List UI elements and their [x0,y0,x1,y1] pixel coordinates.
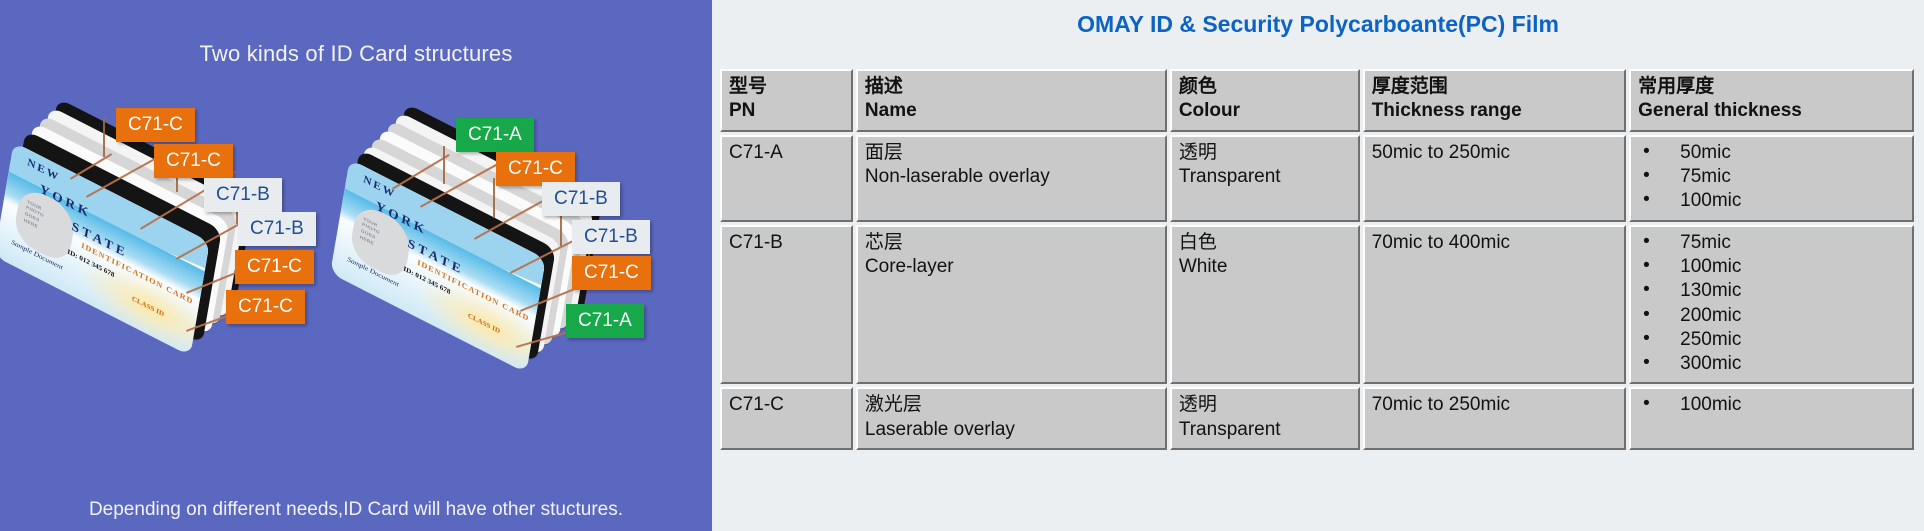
leader-tick [493,178,495,218]
name-cn: 芯层 [865,231,1158,255]
thickness-item: 200mic [1638,304,1905,328]
table-header-row: 型号 PN 描述 Name 颜色 Colour 厚度范围 [720,69,1914,132]
name-cn: 激光层 [865,393,1158,417]
right-spec-panel: OMAY ID & Security Polycarboante(PC) Fil… [712,0,1924,531]
colour-cn: 白色 [1179,231,1351,255]
left-illustration-panel: Two kinds of ID Card structures YOURPHOT… [0,0,712,531]
callout-label: C71-C [238,296,293,318]
thickness-list: 100mic [1638,393,1905,417]
cell-general-thickness: 100mic [1629,387,1914,450]
cell-general-thickness: 50mic75mic100mic [1629,135,1914,222]
left-panel-caption: Depending on different needs,ID Card wil… [0,499,712,521]
callout-label: C71-B [554,188,608,210]
cell-colour: 白色 White [1170,225,1360,385]
cell-colour: 透明 Transparent [1170,387,1360,450]
slide-root: Two kinds of ID Card structures YOURPHOT… [0,0,1924,531]
header-en: Colour [1179,99,1351,123]
cell-general-thickness: 75mic100mic130mic200mic250mic300mic [1629,225,1914,385]
name-cn: 面层 [865,141,1158,165]
thickness-item: 75mic [1638,231,1905,255]
left-panel-title: Two kinds of ID Card structures [0,41,712,67]
callout-label: C71-C [247,256,302,278]
thickness-list: 75mic100mic130mic200mic250mic300mic [1638,231,1905,377]
cell-thickness-range: 70mic to 400mic [1363,225,1626,385]
header-cn: 描述 [865,75,1158,99]
callout-label: C71-A [468,124,522,146]
name-en: Non-laserable overlay [865,166,1050,187]
thickness-item: 130mic [1638,279,1905,303]
thickness-item: 300mic [1638,352,1905,376]
callout-label: C71-C [128,114,183,136]
callout-c71b[interactable]: C71-B [572,220,650,254]
callout-c71c[interactable]: C71-C [496,152,575,186]
callout-label: C71-C [166,150,221,172]
cell-colour: 透明 Transparent [1170,135,1360,222]
name-en: Laserable overlay [865,419,1015,440]
colour-en: Transparent [1179,419,1281,440]
col-header-name: 描述 Name [856,69,1167,132]
header-en: Name [865,99,1158,123]
thickness-item: 100mic [1638,189,1905,213]
header-cn: 厚度范围 [1372,75,1617,99]
callout-c71c[interactable]: C71-C [226,290,305,324]
leader-tick [103,117,105,157]
name-en: Core-layer [865,256,954,277]
callout-label: C71-C [584,262,639,284]
callout-c71b[interactable]: C71-B [238,212,316,246]
thickness-item: 75mic [1638,165,1905,189]
header-en: General thickness [1638,99,1905,123]
col-header-general-thickness: 常用厚度 General thickness [1629,69,1914,132]
thickness-item: 100mic [1638,255,1905,279]
cell-name: 激光层 Laserable overlay [856,387,1167,450]
colour-en: White [1179,256,1228,277]
callout-c71c[interactable]: C71-C [116,108,195,142]
callout-c71c[interactable]: C71-C [235,250,314,284]
cell-pn: C71-B [720,225,853,385]
thickness-item: 250mic [1638,328,1905,352]
callout-label: C71-B [250,218,304,240]
thickness-item: 100mic [1638,393,1905,417]
colour-cn: 透明 [1179,393,1351,417]
cell-pn: C71-C [720,387,853,450]
table-row: C71-A 面层 Non-laserable overlay 透明 Transp… [720,135,1914,222]
header-cn: 型号 [729,75,844,99]
col-header-thickness-range: 厚度范围 Thickness range [1363,69,1626,132]
header-cn: 常用厚度 [1638,75,1905,99]
header-cn: 颜色 [1179,75,1351,99]
cell-name: 面层 Non-laserable overlay [856,135,1167,222]
colour-en: Transparent [1179,166,1281,187]
cell-thickness-range: 70mic to 250mic [1363,387,1626,450]
table-row: C71-C 激光层 Laserable overlay 透明 Transpare… [720,387,1914,450]
spec-table: 型号 PN 描述 Name 颜色 Colour 厚度范围 [717,66,1917,453]
header-en: Thickness range [1372,99,1617,123]
callout-label: C71-B [584,226,638,248]
callout-c71c[interactable]: C71-C [154,144,233,178]
callout-c71b[interactable]: C71-B [542,182,620,216]
callout-label: C71-B [216,184,270,206]
col-header-pn: 型号 PN [720,69,853,132]
thickness-item: 50mic [1638,141,1905,165]
leader-tick [443,146,445,184]
thickness-list: 50mic75mic100mic [1638,141,1905,214]
callout-c71a[interactable]: C71-A [456,118,534,152]
cell-pn: C71-A [720,135,853,222]
cell-thickness-range: 50mic to 250mic [1363,135,1626,222]
callout-label: C71-A [578,310,632,332]
cell-name: 芯层 Core-layer [856,225,1167,385]
colour-cn: 透明 [1179,141,1351,165]
callout-c71b[interactable]: C71-B [204,178,282,212]
col-header-colour: 颜色 Colour [1170,69,1360,132]
callout-label: C71-C [508,158,563,180]
callout-c71a[interactable]: C71-A [566,304,644,338]
header-en: PN [729,99,844,123]
spec-table-title: OMAY ID & Security Polycarboante(PC) Fil… [712,0,1924,38]
spec-table-wrapper: 型号 PN 描述 Name 颜色 Colour 厚度范围 [712,38,1924,453]
table-row: C71-B 芯层 Core-layer 白色 White 70mic to 40… [720,225,1914,385]
callout-c71c[interactable]: C71-C [572,256,651,290]
